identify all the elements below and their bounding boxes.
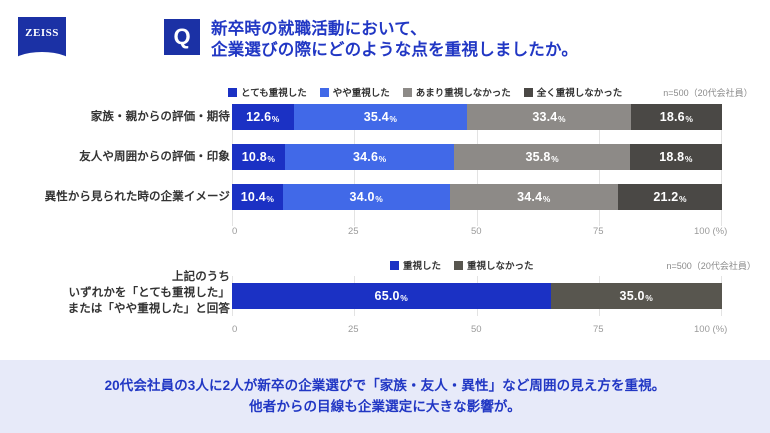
bar-segment[interactable]: 34.4%	[450, 184, 619, 210]
sample-size-note: n=500（20代会社員）	[663, 86, 752, 99]
summary-line-2: 他者からの目線も企業選定に大きな影響が。	[249, 397, 521, 418]
percent-sign: %	[267, 154, 275, 164]
axis-tick-label: 75	[593, 324, 604, 335]
bar-segment-value: 34.4	[517, 190, 542, 204]
legend-item: 重視しなかった	[454, 258, 534, 272]
percent-sign: %	[266, 194, 274, 204]
chart-row-label: 上記のうち いずれかを「とても重視した」 または「やや重視した」と回答	[0, 270, 230, 318]
chart-row-label-line-2: いずれかを「とても重視した」	[0, 286, 230, 302]
bar-segment[interactable]: 10.4%	[232, 184, 283, 210]
bar-segment-value: 18.6	[660, 110, 685, 124]
axis-tick-label: 75	[593, 226, 604, 237]
axis-tick-label: 50	[471, 226, 482, 237]
bar-segment-value: 12.6	[246, 110, 271, 124]
axis-tick-label: 25	[348, 324, 359, 335]
percent-sign: %	[543, 194, 551, 204]
bar-segment[interactable]: 65.0%	[232, 283, 551, 309]
bar-segment[interactable]: 34.6%	[285, 144, 455, 170]
chart-row: 友人や周囲からの評価・印象 10.8% 34.6% 35.8% 18.8%	[0, 144, 770, 170]
bar-segment-value: 35.4	[364, 110, 389, 124]
zeiss-logo: ZEISS	[18, 17, 66, 57]
axis-tick-label: 100 (%)	[694, 226, 727, 237]
bar-segment-value: 21.2	[653, 190, 678, 204]
stacked-bar: 10.4% 34.0% 34.4% 21.2%	[232, 184, 722, 210]
legend-item: 全く重視しなかった	[524, 85, 623, 99]
bar-segment-value: 33.4	[532, 110, 557, 124]
page-title-line-1: 新卒時の就職活動において、	[211, 19, 751, 40]
chart-row-label: 家族・親からの評価・期待	[0, 110, 230, 126]
axis-tick-label: 50	[471, 324, 482, 335]
question-badge: Q	[164, 19, 200, 55]
chart-2: 上記のうち いずれかを「とても重視した」 または「やや重視した」と回答 65.0…	[0, 276, 770, 302]
legend-swatch-icon	[524, 88, 533, 97]
bar-segment-value: 18.8	[659, 150, 684, 164]
stacked-bar: 12.6% 35.4% 33.4% 18.6%	[232, 104, 722, 130]
chart-row: 家族・親からの評価・期待 12.6% 35.4% 33.4% 18.6%	[0, 104, 770, 130]
bar-segment-value: 35.8	[525, 150, 550, 164]
chart-row-label-line-1: 上記のうち	[0, 270, 230, 286]
legend-item: とても重視した	[228, 85, 307, 99]
summary-banner: 20代会社員の3人に2人が新卒の企業選びで「家族・友人・異性」など周囲の見え方を…	[0, 360, 770, 433]
chart-row-label: 異性から見られた時の企業イメージ	[0, 190, 230, 206]
chart-row: 異性から見られた時の企業イメージ 10.4% 34.0% 34.4% 21.2%	[0, 184, 770, 210]
axis-tick-label: 0	[232, 226, 237, 237]
stacked-bar: 65.0% 35.0%	[232, 283, 722, 309]
axis-tick-label: 0	[232, 324, 237, 335]
bar-segment[interactable]: 35.4%	[294, 104, 467, 130]
chart-1-x-axis: 0 25 50 75 100 (%)	[232, 226, 722, 242]
bar-segment[interactable]: 18.8%	[630, 144, 722, 170]
chart-row-label: 友人や周囲からの評価・印象	[0, 150, 230, 166]
sample-size-note: n=500（20代会社員）	[667, 259, 756, 272]
bar-segment[interactable]: 10.8%	[232, 144, 285, 170]
bar-segment[interactable]: 21.2%	[618, 184, 722, 210]
chart-2-x-axis: 0 25 50 75 100 (%)	[232, 324, 722, 340]
bar-segment-value: 34.0	[350, 190, 375, 204]
legend-item-label: 重視した	[403, 258, 441, 272]
legend-item: あまり重視しなかった	[403, 85, 511, 99]
bar-segment[interactable]: 12.6%	[232, 104, 294, 130]
bar-segment-value: 35.0	[620, 289, 645, 303]
bar-segment-value: 34.6	[353, 150, 378, 164]
legend-swatch-icon	[228, 88, 237, 97]
percent-sign: %	[375, 194, 383, 204]
zeiss-wordmark: ZEISS	[25, 28, 59, 39]
stacked-bar: 10.8% 34.6% 35.8% 18.8%	[232, 144, 722, 170]
bar-segment-value: 10.8	[242, 150, 267, 164]
percent-sign: %	[679, 194, 687, 204]
axis-tick-label: 25	[348, 226, 359, 237]
legend-item-label: 重視しなかった	[467, 258, 534, 272]
page-title: 新卒時の就職活動において、 企業選びの際にどのような点を重視しましたか。	[211, 19, 751, 61]
page-title-line-2: 企業選びの際にどのような点を重視しましたか。	[211, 40, 751, 61]
bar-segment[interactable]: 34.0%	[283, 184, 450, 210]
chart-row: 上記のうち いずれかを「とても重視した」 または「やや重視した」と回答 65.0…	[0, 283, 770, 309]
legend-swatch-icon	[403, 88, 412, 97]
percent-sign: %	[645, 293, 653, 303]
bar-segment[interactable]: 33.4%	[467, 104, 631, 130]
percent-sign: %	[558, 114, 566, 124]
axis-tick-label: 100 (%)	[694, 324, 727, 335]
summary-line-1: 20代会社員の3人に2人が新卒の企業選びで「家族・友人・異性」など周囲の見え方を…	[105, 376, 666, 397]
bar-segment[interactable]: 18.6%	[631, 104, 722, 130]
legend-swatch-icon	[390, 261, 399, 270]
legend-item-label: 全く重視しなかった	[537, 85, 623, 99]
percent-sign: %	[400, 293, 408, 303]
percent-sign: %	[685, 154, 693, 164]
bar-segment[interactable]: 35.8%	[454, 144, 629, 170]
percent-sign: %	[551, 154, 559, 164]
legend-item: やや重視した	[320, 85, 390, 99]
bar-segment[interactable]: 35.0%	[551, 283, 723, 309]
percent-sign: %	[379, 154, 387, 164]
percent-sign: %	[685, 114, 693, 124]
legend-swatch-icon	[454, 261, 463, 270]
chart-2-legend: 重視した 重視しなかった n=500（20代会社員）	[390, 258, 756, 272]
legend-item: 重視した	[390, 258, 441, 272]
legend-item-label: とても重視した	[241, 85, 307, 99]
chart-1-legend: とても重視した やや重視した あまり重視しなかった 全く重視しなかった n=50…	[228, 85, 753, 99]
bar-segment-value: 65.0	[375, 289, 400, 303]
legend-item-label: あまり重視しなかった	[416, 85, 511, 99]
percent-sign: %	[272, 114, 280, 124]
legend-item-label: やや重視した	[333, 85, 390, 99]
page-header: ZEISS Q 新卒時の就職活動において、 企業選びの際にどのような点を重視しま…	[0, 0, 770, 78]
chart-1: 家族・親からの評価・期待 12.6% 35.4% 33.4% 18.6% 友人や…	[0, 104, 770, 224]
legend-swatch-icon	[320, 88, 329, 97]
bar-segment-value: 10.4	[241, 190, 266, 204]
percent-sign: %	[389, 114, 397, 124]
zeiss-logo-notch	[18, 52, 66, 57]
chart-row-label-line-3: または「やや重視した」と回答	[0, 302, 230, 318]
